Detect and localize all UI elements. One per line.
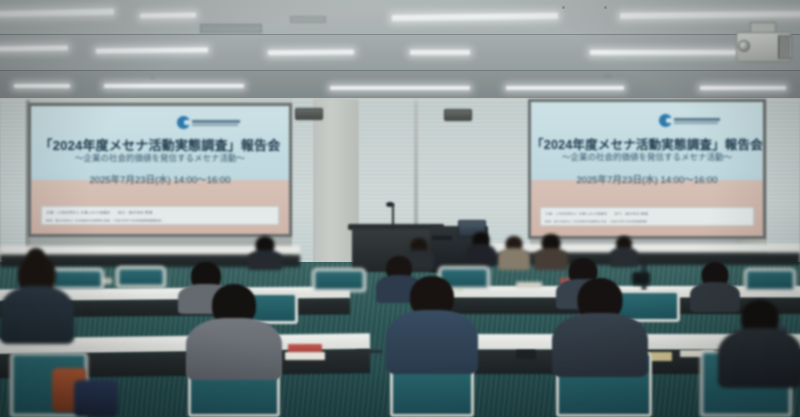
torso — [466, 244, 496, 266]
logo-text-line1 — [674, 118, 720, 121]
slide-date-time: 2025年7月23日(水) 14:00～16:00 — [31, 172, 289, 186]
fluorescent-tube — [410, 50, 470, 55]
torso — [498, 248, 530, 270]
slide-subtitle: ～企業の社会的価値を発信するメセナ活動～ — [531, 151, 763, 163]
fluorescent-tube — [104, 84, 244, 88]
attendee — [386, 276, 478, 368]
microphone-head-icon — [386, 202, 394, 207]
document-white — [285, 352, 325, 360]
torso — [248, 250, 282, 270]
logo-mark-icon — [177, 116, 190, 129]
slide-footer-box: 主催：公益社団法人 企業メセナ協議会 協力：株式会社 電通 助成：独立行政法人 … — [41, 206, 279, 225]
chair — [312, 268, 366, 292]
wall-speaker — [444, 109, 472, 121]
gooseneck-microphone — [392, 204, 394, 228]
ceiling-vent — [290, 16, 326, 23]
slide-footer-line1: 主催：公益社団法人 企業メセナ協議会 協力：株式会社 電通 — [545, 211, 667, 214]
torso — [386, 310, 478, 374]
ceiling-vent — [200, 24, 262, 33]
chair — [744, 268, 796, 292]
attendee — [186, 284, 282, 374]
bag-navy — [74, 380, 118, 417]
mecenat-logo — [659, 114, 720, 127]
torso — [0, 286, 74, 344]
fluorescent-tube — [330, 86, 470, 90]
cable-bundle — [432, 236, 452, 240]
attendee — [552, 278, 648, 370]
attendee — [248, 236, 282, 268]
slide-date-time: 2025年7月23日(水) 14:00～16:00 — [531, 172, 763, 186]
wall-speaker — [295, 108, 323, 120]
torso — [610, 247, 638, 267]
smartphone — [516, 350, 536, 359]
slide-footer-line1: 主催：公益社団法人 企業メセナ協議会 協力：株式会社 電通 — [46, 210, 187, 213]
ceiling-projector — [736, 22, 794, 66]
slide-footer-line2: 助成：独立行政法人 日本芸術文化振興会 基金 「令和7年度 文化芸術振興費補助金… — [545, 219, 647, 222]
slide-footer-line2: 助成：独立行政法人 日本芸術文化振興会 基金 「令和7年度 文化芸術振興費補助金… — [46, 218, 165, 221]
logo-mark-icon — [659, 114, 672, 127]
fluorescent-tube — [0, 45, 68, 51]
attendee — [718, 300, 800, 384]
fluorescent-tube — [14, 84, 70, 88]
conference-room-photo: 「2024年度メセナ活動実態調査」報告会 ～企業の社会的価値を発信するメセナ活動… — [0, 0, 800, 417]
fluorescent-tube — [700, 86, 786, 90]
slide-subtitle: ～企業の社会的価値を発信するメセナ活動～ — [31, 152, 289, 164]
logo-text-line2 — [192, 124, 238, 126]
attendee — [0, 256, 74, 340]
fluorescent-tube — [268, 50, 354, 56]
torso — [186, 318, 282, 380]
attendee — [466, 232, 496, 264]
right-projection-screen: 「2024年度メセナ活動実態調査」報告会 ～企業の社会的価値を発信するメセナ活動… — [528, 99, 766, 239]
chair — [116, 266, 166, 288]
handout-paper — [516, 282, 542, 288]
fluorescent-tube — [96, 47, 208, 53]
torso — [552, 313, 648, 377]
attendee — [498, 236, 530, 268]
fluorescent-tube — [506, 86, 624, 90]
mecenat-logo — [177, 116, 240, 129]
logo-text-line1 — [192, 120, 240, 123]
left-projection-screen: 「2024年度メセナ活動実態調査」報告会 ～企業の社会的価値を発信するメセナ活動… — [28, 103, 292, 237]
fluorescent-tube — [140, 13, 196, 19]
logo-text-line2 — [674, 122, 718, 124]
slide-footer-box: 主催：公益社団法人 企業メセナ協議会 協力：株式会社 電通 助成：独立行政法人 … — [540, 207, 754, 226]
ceiling — [0, 0, 800, 104]
torso — [718, 328, 800, 388]
fluorescent-tube — [590, 50, 740, 55]
attendee — [610, 236, 638, 266]
pen — [356, 350, 382, 353]
